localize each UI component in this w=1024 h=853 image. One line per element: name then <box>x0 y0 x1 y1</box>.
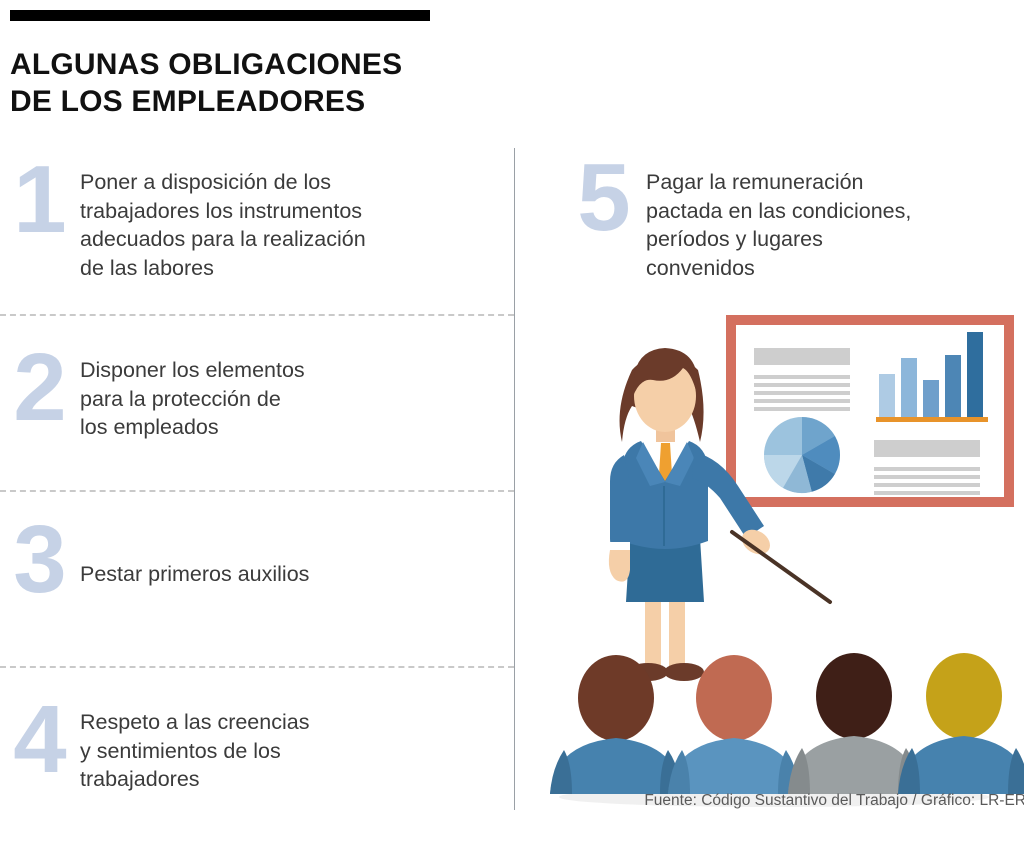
list-item-text: Poner a disposición de los trabajadores … <box>80 156 514 282</box>
presenter-blazer-seam <box>663 486 665 546</box>
list-item-number: 4 <box>0 696 80 784</box>
infographic-root: ALGUNAS OBLIGACIONES DE LOS EMPLEADORES … <box>0 0 1024 853</box>
list-item-text: Pagar la remuneración pactada en las con… <box>646 154 931 282</box>
audience-hair <box>696 655 772 741</box>
presenter-shoe-right <box>664 663 704 681</box>
list-item[interactable]: 2 Disponer los elementos para la protecc… <box>0 344 514 442</box>
list-item[interactable]: 5 Pagar la remuneración pactada en las c… <box>562 154 931 282</box>
pointer-stick <box>732 532 830 602</box>
obligations-list-left: 1 Poner a disposición de los trabajadore… <box>0 148 514 818</box>
whiteboard <box>726 315 1014 507</box>
title-rule <box>10 10 430 21</box>
list-item-text: Pestar primeros auxilios <box>80 516 514 589</box>
presenter-arm-left <box>610 455 630 549</box>
list-item-number: 5 <box>562 154 646 242</box>
list-item[interactable]: 1 Poner a disposición de los trabajadore… <box>0 156 514 282</box>
list-item-number: 1 <box>0 156 80 244</box>
presentation-illustration-svg <box>544 310 1024 810</box>
board-pie-chart <box>764 417 840 493</box>
list-separator <box>0 666 514 668</box>
list-item-number: 2 <box>0 344 80 432</box>
page-title: ALGUNAS OBLIGACIONES DE LOS EMPLEADORES <box>10 46 480 120</box>
presenter-hand-left <box>609 550 630 582</box>
audience-hair <box>816 653 892 739</box>
audience-hair <box>926 653 1002 739</box>
list-item[interactable]: 4 Respeto a las creencias y sentimientos… <box>0 696 514 794</box>
list-item-number: 3 <box>0 516 80 604</box>
audience-member <box>898 653 1024 794</box>
source-credit: Fuente: Código Sustantivo del Trabajo / … <box>644 792 1024 810</box>
presenter-leg-left <box>645 598 661 668</box>
audience-member <box>788 653 920 794</box>
audience-group <box>550 653 1024 807</box>
list-separator <box>0 490 514 492</box>
list-item-text: Disponer los elementos para la protecció… <box>80 344 514 442</box>
obligations-list-right: 5 Pagar la remuneración pactada en las c… <box>514 148 1024 818</box>
board-text-block-bottom <box>874 440 980 495</box>
audience-hair <box>578 655 654 741</box>
presentation-illustration <box>544 310 1024 810</box>
presenter-leg-right <box>669 598 685 668</box>
list-item-text: Respeto a las creencias y sentimientos d… <box>80 696 514 794</box>
bar-chart-baseline <box>876 417 988 422</box>
list-item[interactable]: 3 Pestar primeros auxilios <box>0 516 514 604</box>
presenter-cuff-left <box>610 542 630 550</box>
list-separator <box>0 314 514 316</box>
